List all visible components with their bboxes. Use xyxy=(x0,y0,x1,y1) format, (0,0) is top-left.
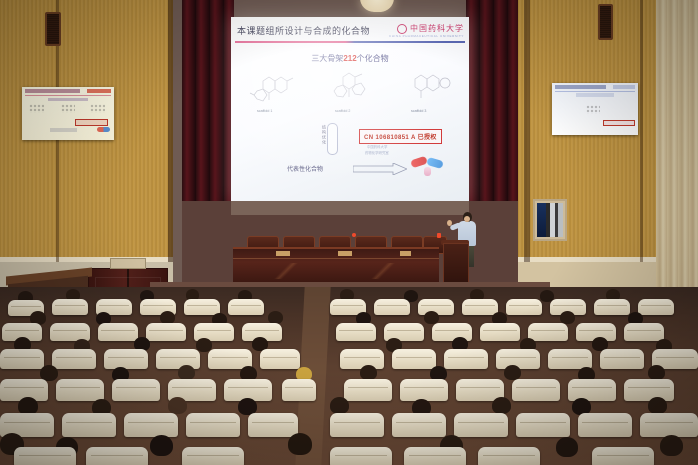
wall-speaker-left xyxy=(45,12,61,46)
table-nameplate xyxy=(338,251,352,256)
affiliation-line-2: 药物化学研究室 xyxy=(365,151,389,156)
optimization-bar xyxy=(327,123,338,155)
speaker-hand xyxy=(447,220,452,226)
subtitle-count: 212 xyxy=(343,54,356,63)
seat xyxy=(404,447,466,465)
molecule-icon xyxy=(249,69,301,109)
seat xyxy=(52,299,88,315)
table-nameplate xyxy=(276,251,290,256)
optimization-label: 结构优化 xyxy=(321,125,327,145)
university-logo: 中国药科大学 xyxy=(397,23,464,34)
attendee-head xyxy=(660,435,683,456)
wall-speaker-right xyxy=(598,4,613,40)
scaffold-label-2: scaffold 2 xyxy=(335,109,350,113)
attendee-head xyxy=(330,397,349,414)
slide-title: 本课题组所设计与合成的化合物 xyxy=(237,24,370,37)
auditorium-photo: 本课题组所设计与合成的化合物 中国药科大学 CHINA PHARMACEUTIC… xyxy=(0,0,698,465)
attendee-head xyxy=(288,433,312,455)
seat xyxy=(512,379,560,401)
exit-sign xyxy=(110,258,146,269)
subtitle-prefix: 三大骨架 xyxy=(311,54,343,63)
title-divider xyxy=(235,41,465,43)
table-nameplate xyxy=(400,251,411,256)
seat xyxy=(112,379,160,401)
table-indicator-light xyxy=(352,233,356,237)
attendee-head xyxy=(556,437,578,457)
attendee-head xyxy=(150,435,173,456)
av-control-panel[interactable] xyxy=(533,199,567,241)
side-curtain-beige xyxy=(656,0,698,300)
projection-screen: 本课题组所设计与合成的化合物 中国药科大学 CHINA PHARMACEUTIC… xyxy=(231,17,469,201)
wall-monitor-left-screen xyxy=(22,87,114,140)
seat xyxy=(186,413,240,437)
seat xyxy=(260,349,300,369)
seat xyxy=(374,299,410,315)
seat xyxy=(392,349,436,369)
speaker-face xyxy=(464,216,470,222)
seat xyxy=(516,413,570,437)
seat xyxy=(56,379,104,401)
seat xyxy=(98,323,138,341)
representative-compound-label: 代表性化合物 xyxy=(287,164,323,173)
seat xyxy=(454,413,508,437)
seat xyxy=(156,349,200,369)
seat xyxy=(14,447,76,465)
seat xyxy=(86,447,148,465)
attendee-head xyxy=(178,365,195,380)
seat xyxy=(52,349,96,369)
seat xyxy=(480,323,520,341)
tablet-pill-icon xyxy=(424,167,431,176)
attendee-head xyxy=(560,311,575,324)
scaffold-structure-2 xyxy=(327,67,379,107)
seat xyxy=(392,413,446,437)
affiliation-line-1: 中国药科大学 xyxy=(367,145,387,150)
lectern-light xyxy=(437,233,441,238)
seat xyxy=(506,299,542,315)
seat xyxy=(640,413,698,437)
seat xyxy=(62,413,116,437)
seat xyxy=(600,349,644,369)
seat xyxy=(228,299,264,315)
subtitle-suffix: 个化合物 xyxy=(357,54,389,63)
seat xyxy=(184,299,220,315)
seat xyxy=(124,413,178,437)
seat xyxy=(624,323,664,341)
seat xyxy=(478,447,540,465)
university-logo-text: 中国药科大学 xyxy=(410,23,464,34)
seat xyxy=(336,323,376,341)
screen-valance xyxy=(231,201,469,215)
wall-monitor-right-screen xyxy=(552,83,638,135)
seat xyxy=(568,379,616,401)
seat xyxy=(0,349,44,369)
seat xyxy=(248,413,298,437)
seat xyxy=(330,447,392,465)
seat xyxy=(444,349,488,369)
seat xyxy=(146,323,186,341)
attendee-head xyxy=(492,397,511,414)
wall-seam xyxy=(524,0,530,262)
seat xyxy=(462,299,498,315)
seat xyxy=(548,349,592,369)
wall-monitor-left[interactable] xyxy=(22,87,114,140)
slide-subtitle: 三大骨架212个化合物 xyxy=(231,53,469,64)
seat xyxy=(330,413,384,437)
seat xyxy=(344,379,392,401)
seat xyxy=(528,323,568,341)
audience-seating xyxy=(0,287,698,465)
scaffold-structure-1 xyxy=(249,69,301,109)
molecule-icon xyxy=(327,67,379,107)
wall-monitor-right[interactable] xyxy=(552,83,638,135)
process-arrow-icon xyxy=(353,162,407,172)
attendee-head xyxy=(648,365,665,380)
logo-emblem-icon xyxy=(397,24,407,34)
seat xyxy=(592,447,654,465)
seat xyxy=(104,349,148,369)
seat xyxy=(282,379,316,401)
seat xyxy=(638,299,674,315)
wall-seam xyxy=(640,0,643,262)
scaffold-label-3: scaffold 3 xyxy=(411,109,426,113)
seat xyxy=(400,379,448,401)
attendee-head xyxy=(424,311,439,324)
scaffold-structure-3 xyxy=(403,67,455,107)
seat xyxy=(432,323,472,341)
molecule-icon xyxy=(403,67,455,107)
attendee-head xyxy=(504,365,521,380)
seat xyxy=(624,379,674,401)
attendee-head xyxy=(360,365,377,380)
university-logo-subtext: CHINA PHARMACEUTICAL UNIVERSITY xyxy=(389,34,464,38)
seat xyxy=(594,299,630,315)
scaffold-label-1: scaffold 1 xyxy=(257,109,272,113)
attendee-head xyxy=(168,397,187,414)
seat xyxy=(182,447,244,465)
lectern xyxy=(443,243,469,287)
patent-badge: CN 106810851 A 已授权 xyxy=(359,129,442,144)
attendee-head xyxy=(648,397,667,414)
seat xyxy=(578,413,632,437)
